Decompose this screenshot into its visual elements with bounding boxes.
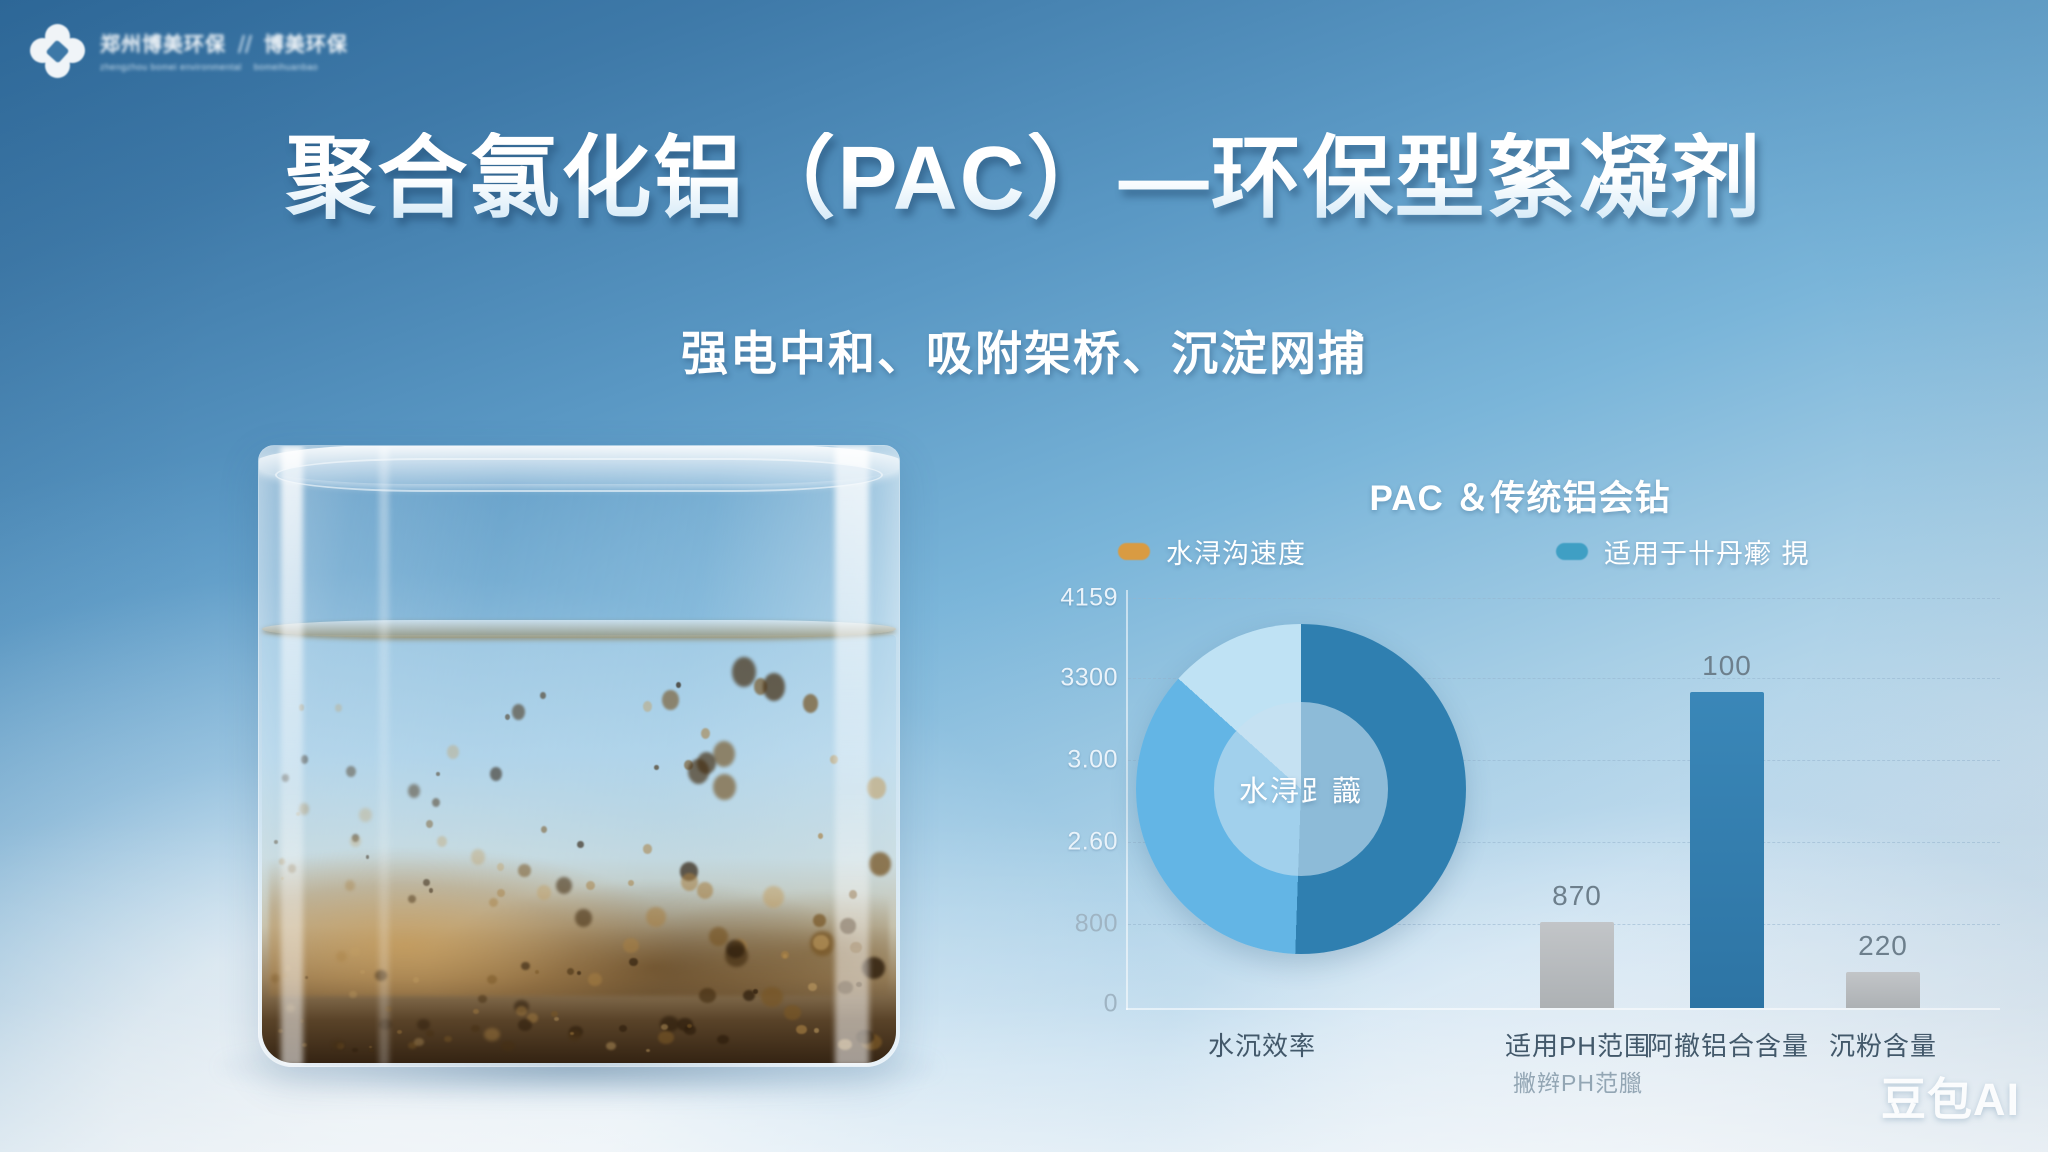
logo-company-cn: 郑州博美环保 xyxy=(100,35,226,55)
chart-legend: 水浔沟速度 适用于卄丹𤺋 𧌨挸 xyxy=(1118,532,1990,571)
bar-value-sediment: 220 xyxy=(1858,930,1908,962)
x-axis-labels: 水沉效率 适用PH范围 撇辫PH范臘 阿撤铝合含量 沉粉含量 xyxy=(1040,1026,2000,1096)
logo-divider: // xyxy=(238,33,252,58)
beaker-illustration xyxy=(258,445,898,1085)
logo-brand-en: bomeihuanbao xyxy=(254,63,318,72)
bar-value-alumina: 100 xyxy=(1702,650,1752,682)
bar-item-sediment[interactable]: 220 xyxy=(1846,930,1920,1008)
y-tick-4: 800 xyxy=(1075,910,1118,939)
bar-rect-alumina xyxy=(1690,692,1764,1008)
legend-swatch-orange xyxy=(1118,543,1150,560)
legend-label-1: 适用于卄丹𤺋 𧌨挸 xyxy=(1604,532,1810,571)
y-tick-2: 3.00 xyxy=(1067,746,1118,775)
x-label-3: 沉粉含量 xyxy=(1829,1026,1937,1063)
x-label-0: 水沉效率 xyxy=(1208,1026,1316,1063)
x-axis-line xyxy=(1126,1008,2000,1010)
donut-hole: 水浔𧾷𧄹 xyxy=(1214,702,1388,876)
bar-item-ph[interactable]: 870 xyxy=(1540,880,1614,1008)
x-label-1: 适用PH范围 xyxy=(1505,1026,1651,1063)
x-label-2: 阿撤铝合含量 xyxy=(1647,1026,1809,1063)
chart-title: PAC ＆传统铝会钻 xyxy=(1040,470,2000,521)
beaker-glass xyxy=(258,445,900,1067)
legend-item-1[interactable]: 适用于卄丹𤺋 𧌨挸 xyxy=(1556,532,1810,571)
comparison-chart: PAC ＆传统铝会钻 水浔沟速度 适用于卄丹𤺋 𧌨挸 4159 3300 3.0… xyxy=(1040,470,2000,1090)
liquid-surface-line xyxy=(262,620,896,638)
legend-swatch-teal xyxy=(1556,543,1588,560)
logo-wordmark: 郑州博美环保 // 博美环保 zhengzhou bomei environme… xyxy=(100,33,348,72)
beaker-rim-inner xyxy=(275,458,883,492)
y-axis: 4159 3300 3.00 2.60 800 0 xyxy=(1040,590,1126,1010)
bar-rect-sediment xyxy=(1846,972,1920,1008)
bar-item-alumina[interactable]: 100 xyxy=(1690,650,1764,1008)
bar-group: 870 100 220 xyxy=(1460,590,1992,1008)
y-tick-3: 2.60 xyxy=(1067,828,1118,857)
brand-logo[interactable]: 郑州博美环保 // 博美环保 zhengzhou bomei environme… xyxy=(30,24,348,80)
page-subtitle: 强电中和、吸附架桥、沉淀网捕 xyxy=(0,315,2048,384)
watermark: 豆包AI xyxy=(1881,1063,2020,1128)
y-tick-0: 4159 xyxy=(1060,584,1118,613)
logo-company-en: zhengzhou bomei environmental xyxy=(100,63,242,72)
bar-value-ph: 870 xyxy=(1552,880,1602,912)
logo-brand-cn: 博美环保 xyxy=(264,35,348,55)
legend-item-0[interactable]: 水浔沟速度 xyxy=(1118,532,1306,571)
plot-area: 4159 3300 3.00 2.60 800 0 水浔𧾷𧄹 xyxy=(1040,590,2000,1010)
donut-chart[interactable]: 水浔𧾷𧄹 xyxy=(1136,624,1466,954)
donut-center-label: 水浔𧾷𧄹 xyxy=(1239,768,1363,810)
slide-canvas: 郑州博美环保 // 博美环保 zhengzhou bomei environme… xyxy=(0,0,2048,1152)
bar-rect-ph xyxy=(1540,922,1614,1008)
legend-label-0: 水浔沟速度 xyxy=(1166,532,1306,571)
y-tick-5: 0 xyxy=(1104,990,1118,1019)
x-sublabel-1: 撇辫PH范臘 xyxy=(1513,1064,1643,1098)
y-tick-1: 3300 xyxy=(1060,664,1118,693)
y-axis-line xyxy=(1126,590,1128,1010)
pinwheel-icon xyxy=(30,24,86,80)
page-title: 聚合氯化铝（PAC）—环保型絮凝剂 xyxy=(0,132,2048,227)
